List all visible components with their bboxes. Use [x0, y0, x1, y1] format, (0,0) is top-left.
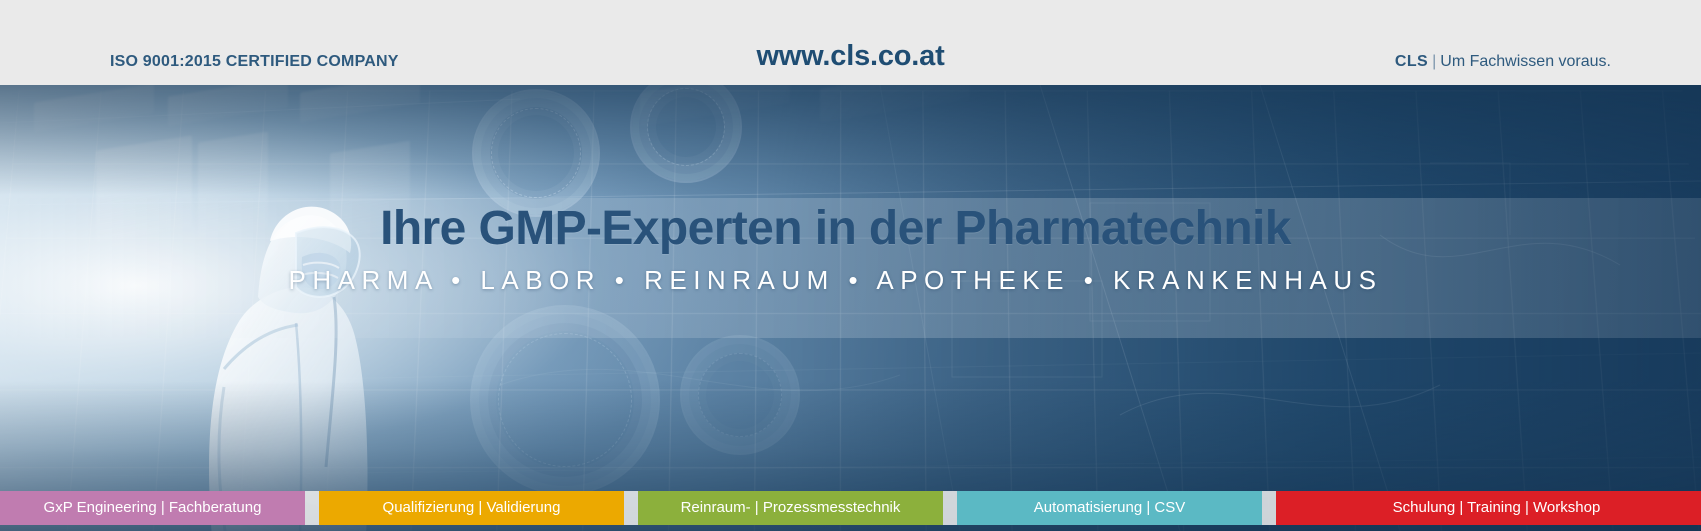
service-bar-gap — [624, 491, 638, 525]
service-bar-gap — [1262, 491, 1276, 525]
service-bar-item[interactable]: Qualifizierung | Validierung — [319, 491, 624, 525]
service-bar-row: GxP Engineering | FachberatungQualifizie… — [0, 487, 1701, 531]
hero-subline: PHARMA • LABOR • REINRAUM • APOTHEKE • K… — [0, 265, 1671, 296]
service-bar-label: Reinraum- | Prozessmesstechnik — [681, 499, 901, 516]
service-bar-item[interactable]: Reinraum- | Prozessmesstechnik — [638, 491, 943, 525]
service-bar-label: Schulung | Training | Workshop — [1393, 499, 1601, 516]
service-bar-label: GxP Engineering | Fachberatung — [44, 499, 262, 516]
website-header-banner: ISO 9001:2015 CERTIFIED COMPANY www.cls.… — [0, 0, 1701, 531]
service-bar-label: Automatisierung | CSV — [1034, 499, 1185, 516]
hero-banner: Ihre GMP-Experten in der Pharmatechnik P… — [0, 85, 1701, 531]
service-bar-item[interactable]: Automatisierung | CSV — [957, 491, 1262, 525]
hero-text-block: Ihre GMP-Experten in der Pharmatechnik P… — [0, 203, 1701, 296]
service-bar-gap — [305, 491, 319, 525]
service-bar-label: Qualifizierung | Validierung — [383, 499, 561, 516]
hero-headline: Ihre GMP-Experten in der Pharmatechnik — [0, 203, 1671, 255]
brand-name: CLS — [1395, 53, 1428, 70]
brand-separator: | — [1432, 53, 1436, 70]
top-utility-bar: ISO 9001:2015 CERTIFIED COMPANY www.cls.… — [0, 0, 1701, 85]
service-bar-item[interactable]: Schulung | Training | Workshop — [1276, 491, 1701, 525]
brand-claim: CLS|Um Fachwissen voraus. — [1395, 53, 1611, 71]
brand-tagline: Um Fachwissen voraus. — [1440, 53, 1611, 70]
service-bar-gap — [943, 491, 957, 525]
service-bar-item[interactable]: GxP Engineering | Fachberatung — [0, 491, 305, 525]
